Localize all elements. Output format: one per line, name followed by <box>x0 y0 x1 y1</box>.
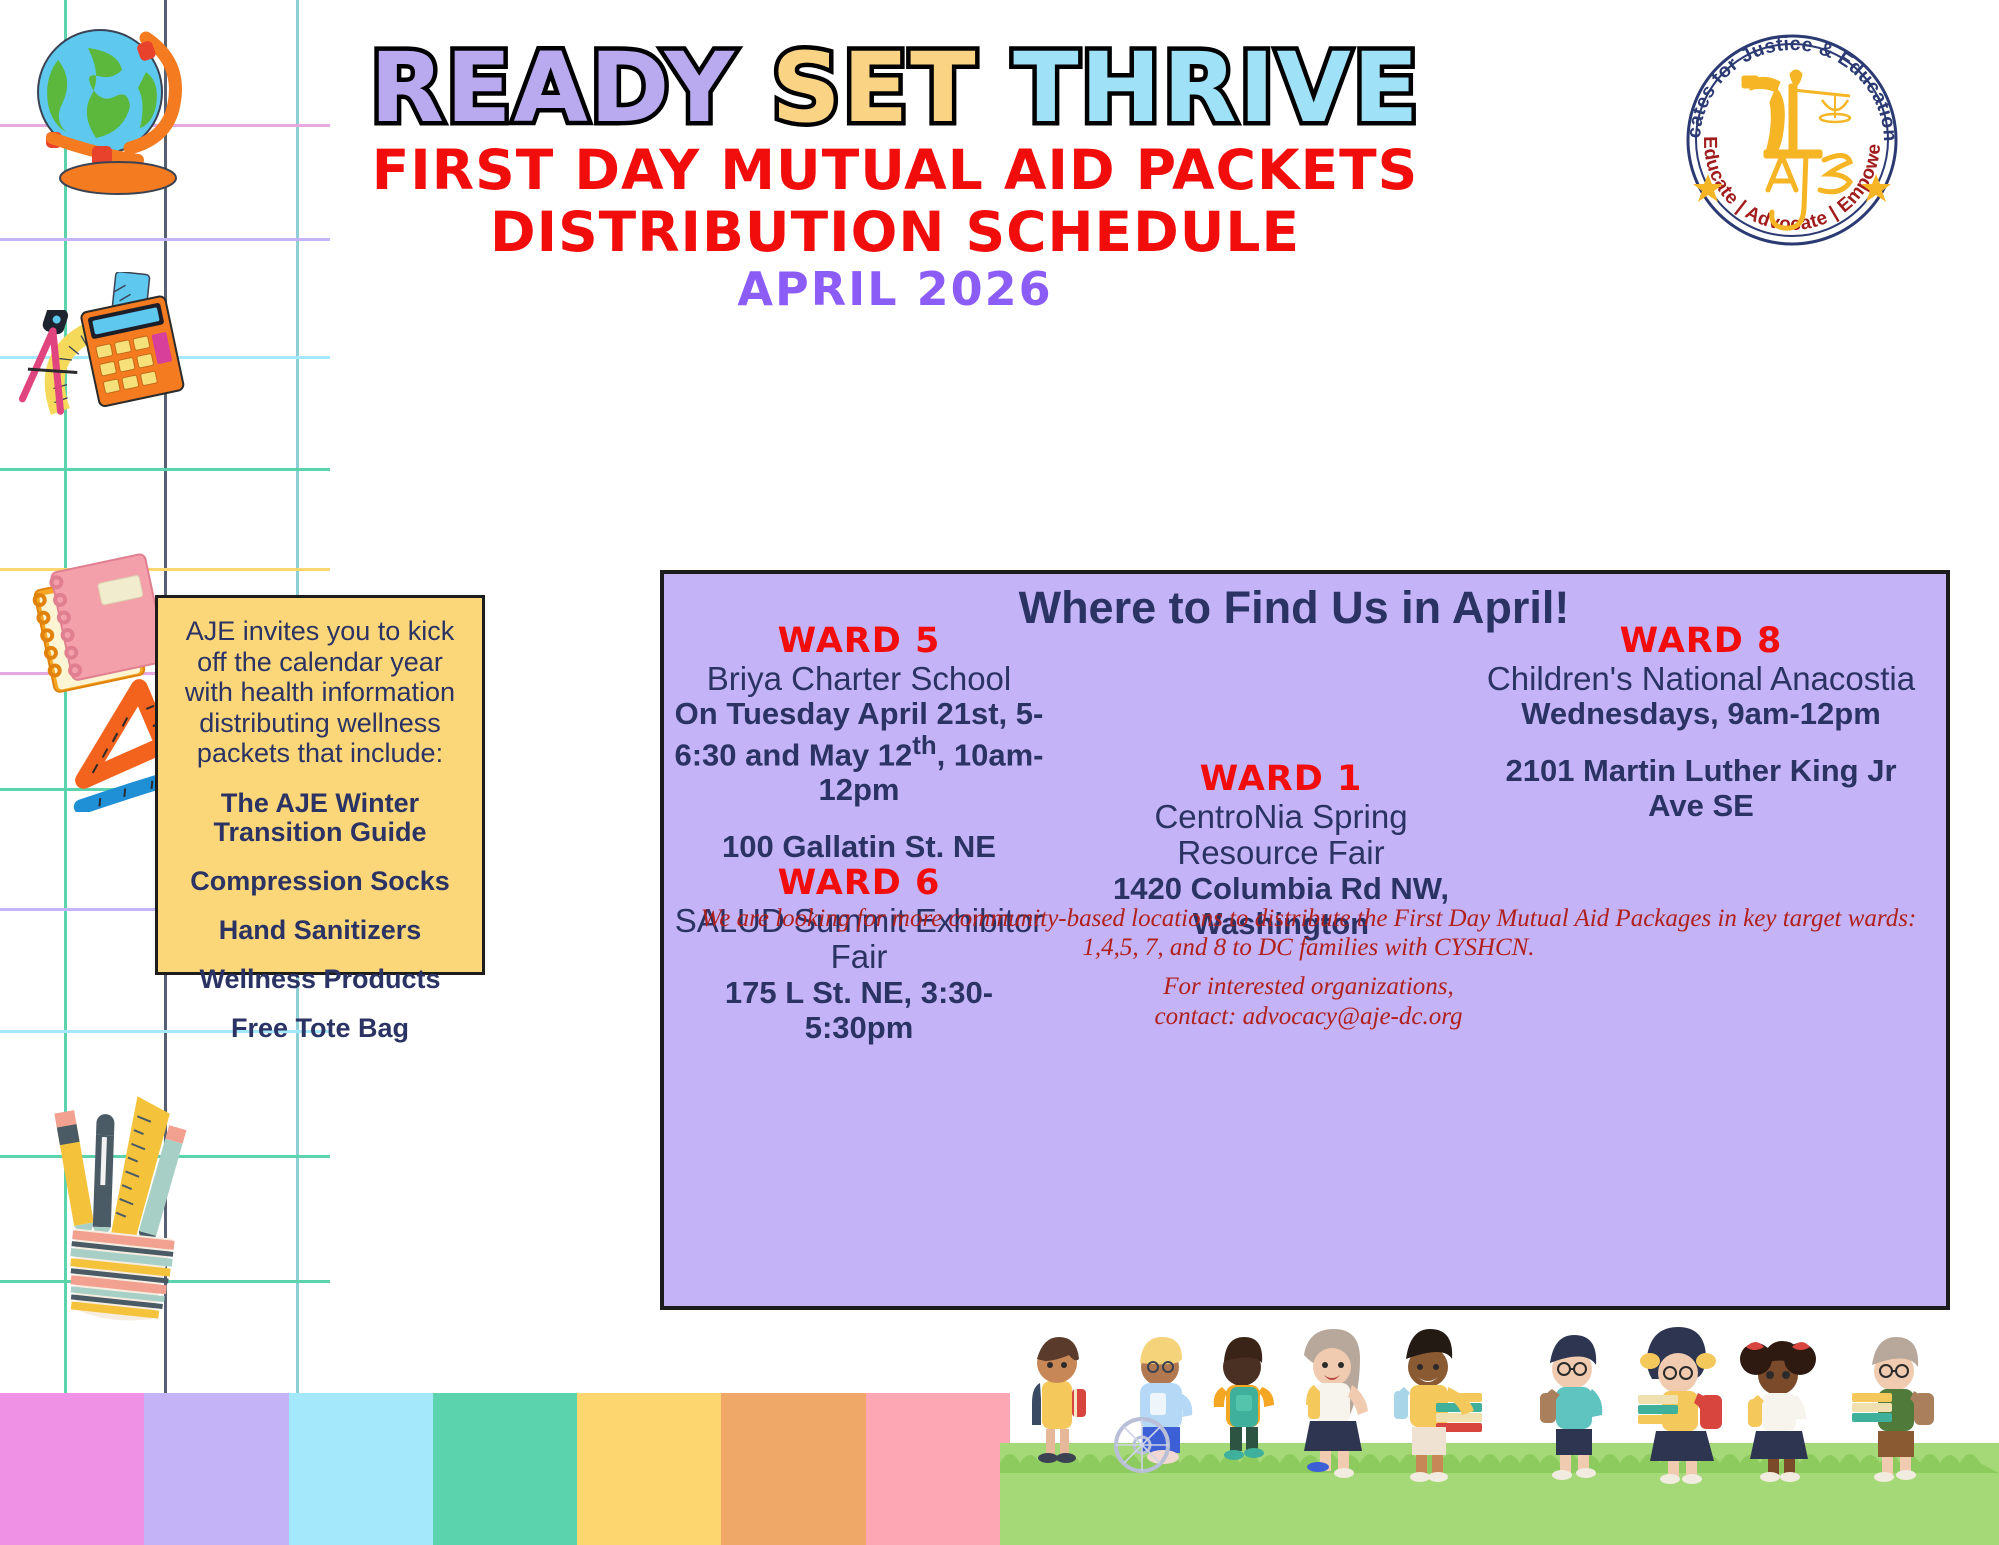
color-strip <box>0 1393 1010 1545</box>
grid-line-horizontal <box>0 468 330 471</box>
student-9 <box>1852 1337 1934 1482</box>
ward-label: WARD 6 <box>674 864 1044 903</box>
pencil-cup-icon <box>30 1075 210 1340</box>
aje-logo: Advocates for Justice & Education, Inc. … <box>1672 22 1912 252</box>
ward-label: WARD 5 <box>674 622 1044 661</box>
color-swatch <box>144 1393 288 1545</box>
ward-block-8: WARD 8 Children's National Anacostia Wed… <box>1486 622 1916 824</box>
student-3 <box>1214 1337 1274 1460</box>
subtitle-line-1: FIRST DAY MUTUAL AID PACKETS <box>370 142 1420 198</box>
locations-box: Where to Find Us in April! WARD 5 Briya … <box>660 570 1950 1310</box>
student-4 <box>1304 1329 1368 1478</box>
packet-item: Hand Sanitizers <box>178 916 462 945</box>
packet-item: The AJE Winter Transition Guide <box>178 789 462 847</box>
contact-line-1: For interested organizations, <box>686 972 1931 1002</box>
packet-contents-box: AJE invites you to kick off the calendar… <box>155 595 485 975</box>
ward-label: WARD 8 <box>1486 622 1916 661</box>
main-title: READY SET THRIVE <box>370 40 1420 136</box>
ward-label: WARD 1 <box>1086 760 1476 799</box>
ward-venue: Briya Charter School <box>674 661 1044 698</box>
student-5 <box>1394 1329 1482 1482</box>
student-2 <box>1116 1337 1192 1471</box>
contact-line-2: contact: advocacy@aje-dc.org <box>686 1002 1931 1032</box>
globe-icon <box>18 20 208 205</box>
subtitle-date: APRIL 2026 <box>370 262 1420 316</box>
title-word-set: SET <box>771 32 977 144</box>
student-7 <box>1638 1327 1722 1484</box>
compass-icon <box>16 310 136 435</box>
ward-address: 2101 Martin Luther King Jr Ave SE <box>1486 754 1916 823</box>
packet-item: Wellness Products <box>178 965 462 994</box>
flyer-canvas: READY SET THRIVE FIRST DAY MUTUAL AID PA… <box>0 0 1999 1545</box>
color-swatch <box>0 1393 144 1545</box>
ward-venue: CentroNia Spring Resource Fair <box>1086 799 1476 873</box>
title-word-ready: READY <box>370 32 736 144</box>
ward-schedule: On Tuesday April 21st, 5-6:30 and May 12… <box>674 697 1044 807</box>
subtitle-line-2: DISTRIBUTION SCHEDULE <box>370 204 1420 260</box>
locations-contact: For interested organizations, contact: a… <box>686 972 1931 1032</box>
ward-address: 100 Gallatin St. NE <box>674 830 1044 865</box>
color-swatch <box>721 1393 865 1545</box>
color-swatch <box>577 1393 721 1545</box>
locations-note: We are looking for more community-based … <box>686 904 1931 962</box>
student-1 <box>1032 1337 1086 1463</box>
color-swatch <box>289 1393 433 1545</box>
color-swatch <box>433 1393 577 1545</box>
packet-intro-text: AJE invites you to kick off the calendar… <box>178 616 462 769</box>
ward-venue: Children's National Anacostia <box>1486 661 1916 698</box>
color-swatch <box>866 1393 1010 1545</box>
packet-item: Free Tote Bag <box>178 1014 462 1043</box>
students-illustration <box>1000 1315 1999 1475</box>
title-word-thrive: THRIVE <box>1013 32 1420 144</box>
ward-schedule: Wednesdays, 9am-12pm <box>1486 697 1916 732</box>
title-block: READY SET THRIVE FIRST DAY MUTUAL AID PA… <box>370 40 1420 316</box>
student-6 <box>1540 1335 1602 1480</box>
student-8 <box>1740 1341 1816 1482</box>
ward-block-5: WARD 5 Briya Charter School On Tuesday A… <box>674 622 1044 865</box>
grid-line-horizontal <box>0 238 330 241</box>
packet-item: Compression Socks <box>178 867 462 896</box>
